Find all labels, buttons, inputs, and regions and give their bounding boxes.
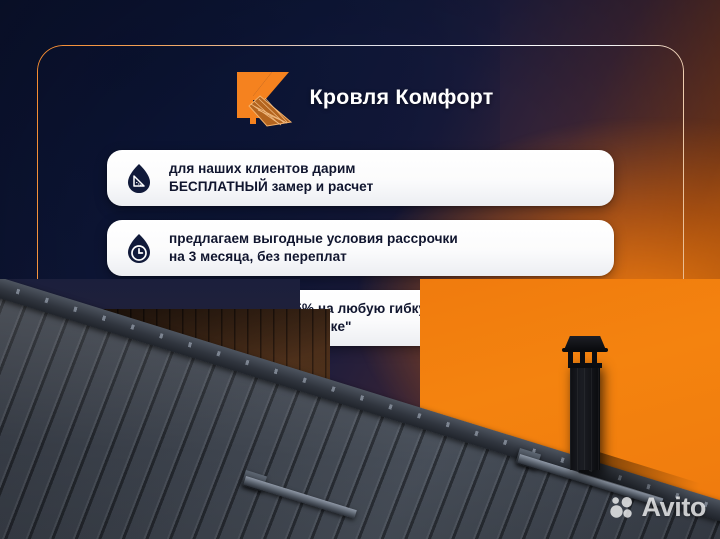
benefit-text: для наших клиентов дарим БЕСПЛАТНЫЙ заме… xyxy=(169,160,373,195)
benefit-line-1: предлагаем выгодные условия рассрочки xyxy=(169,230,458,248)
benefit-text: предлагаем выгодные условия рассрочки на… xyxy=(169,230,458,265)
benefit-line-1: для наших клиентов дарим xyxy=(169,160,373,178)
clock-in-droplet-icon xyxy=(125,233,153,264)
ruler-in-droplet-icon xyxy=(125,163,153,194)
chimney xyxy=(566,334,604,470)
benefit-line-2: БЕСПЛАТНЫЙ замер и расчет xyxy=(169,178,373,196)
avito-wordmark: Avito xyxy=(642,492,707,523)
benefit-line-2: на 3 месяца, без переплат xyxy=(169,248,458,266)
chimney-cap xyxy=(564,336,606,350)
benefit-card[interactable]: предлагаем выгодные условия рассрочки на… xyxy=(107,220,614,276)
avito-watermark: Avito xyxy=(609,492,707,523)
benefit-card[interactable]: для наших клиентов дарим БЕСПЛАТНЫЙ заме… xyxy=(107,150,614,206)
chimney-body xyxy=(570,364,600,470)
avito-dots-icon xyxy=(609,495,635,521)
brand-name: Кровля Комфорт xyxy=(310,85,494,110)
advertisement-banner: Кровля Комфорт для наших клиентов дарим … xyxy=(0,0,720,539)
roof-letter-k-logo-icon xyxy=(227,66,293,128)
brand-header: Кровля Комфорт xyxy=(0,62,720,132)
